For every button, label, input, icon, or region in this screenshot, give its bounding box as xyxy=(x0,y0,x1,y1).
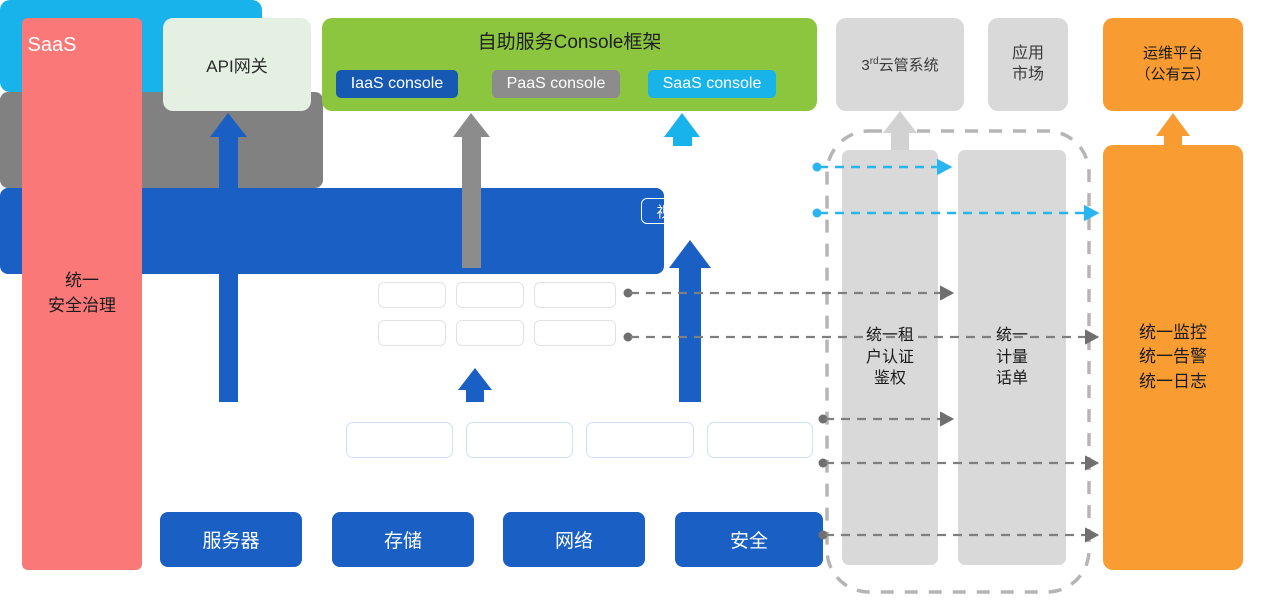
iaas-console-button[interactable]: IaaS console xyxy=(336,70,458,98)
security-governance-column: 统一 安全治理 xyxy=(22,18,142,570)
paas-service-dgc[interactable]: DGC xyxy=(456,282,524,308)
ops-platform-line2: （公有云） xyxy=(1135,65,1210,85)
ops-platform-line1: 运维平台 xyxy=(1135,44,1210,64)
paas-service-roma[interactable]: ROMA xyxy=(378,282,446,308)
auth-line1: 统一租 xyxy=(866,325,914,347)
resource-box-server[interactable]: 服务器 xyxy=(160,512,302,567)
paas-console-button[interactable]: PaaS console xyxy=(492,70,620,98)
billing-line3: 话单 xyxy=(996,368,1028,390)
unified-tenant-auth-column: 统一租 户认证 鉴权 xyxy=(842,150,938,565)
paas-layer-label: PaaS xyxy=(312,302,382,326)
infra-service-network[interactable]: Network xyxy=(586,422,694,458)
ops-column-line2: 统一告警 xyxy=(1139,345,1207,370)
paas-service-cache[interactable]: 缓存 xyxy=(456,320,524,346)
ops-platform-box: 运维平台 （公有云） xyxy=(1103,18,1243,111)
arrow-ops-column-to-platform xyxy=(1156,113,1190,145)
paas-service-database[interactable]: 数据库 xyxy=(378,320,446,346)
arrow-saas-to-console xyxy=(664,113,700,146)
third-party-cloud-box: 3rd云管系统 xyxy=(836,18,964,111)
billing-line2: 计量 xyxy=(996,347,1028,369)
infrastructure-layer-label: 统一基础设施服务 xyxy=(172,428,340,455)
ops-monitoring-column: 统一监控 统一告警 统一日志 xyxy=(1103,145,1243,570)
arrow-shared-to-third-party-cloud xyxy=(883,111,917,150)
ops-column-line1: 统一监控 xyxy=(1139,321,1207,346)
paas-console-label: PaaS console xyxy=(507,75,606,93)
security-governance-line1: 统一 xyxy=(48,269,116,294)
infra-service-cce[interactable]: CCE xyxy=(707,422,813,458)
api-gateway-label: API网关 xyxy=(206,52,267,77)
saas-blockchain-label: 区块链 xyxy=(656,163,701,184)
resource-box-storage[interactable]: 存储 xyxy=(332,512,474,567)
resource-box-network[interactable]: 网络 xyxy=(503,512,645,567)
resource-box-security[interactable]: 安全 xyxy=(675,512,823,567)
paas-modelarts-label: ModelArts xyxy=(543,287,606,303)
paas-bigdata-label: 大数据 xyxy=(554,323,596,343)
saas-video-label: 视频云 xyxy=(656,201,701,222)
saas-service-desktop-cloud[interactable]: 桌面云 xyxy=(725,198,795,224)
third-party-cloud-prefix: 3 xyxy=(861,57,869,74)
resource-network-label: 网络 xyxy=(555,526,593,553)
saas-layer-label: SaaS xyxy=(14,34,90,57)
ops-column-line3: 统一日志 xyxy=(1139,370,1207,395)
auth-line3: 鉴权 xyxy=(866,368,914,390)
infra-cce-label: CCE xyxy=(740,429,780,451)
paas-dgc-label: DGC xyxy=(474,287,505,303)
auth-line2: 户认证 xyxy=(866,347,914,369)
saas-service-iot[interactable]: IoT xyxy=(725,160,795,186)
arrow-infra-to-saas xyxy=(669,240,711,402)
billing-line1: 统一 xyxy=(996,325,1028,347)
paas-cache-label: 缓存 xyxy=(476,323,504,343)
architecture-diagram: 统一 安全治理 API网关 自助服务Console框架 IaaS console… xyxy=(0,0,1265,605)
saas-console-label: SaaS console xyxy=(663,75,762,93)
infra-network-label: Network xyxy=(605,429,675,451)
saas-service-video-cloud[interactable]: 视频云 xyxy=(641,198,717,224)
app-market-line2: 市场 xyxy=(1012,65,1044,86)
infra-storage-label: Storage xyxy=(486,429,553,451)
third-party-cloud-suffix: 云管系统 xyxy=(879,57,939,74)
saas-service-blockchain[interactable]: 区块链 xyxy=(641,160,717,186)
saas-desktop-label: 桌面云 xyxy=(737,201,782,222)
paas-service-modelarts[interactable]: ModelArts xyxy=(534,282,616,308)
paas-database-label: 数据库 xyxy=(391,323,433,343)
resource-server-label: 服务器 xyxy=(202,526,259,553)
saas-console-button[interactable]: SaaS console xyxy=(648,70,776,98)
api-gateway-box: API网关 xyxy=(163,18,311,111)
unified-billing-column: 统一 计量 话单 xyxy=(958,150,1066,565)
app-market-line1: 应用 xyxy=(1012,44,1044,65)
paas-service-bigdata[interactable]: 大数据 xyxy=(534,320,616,346)
console-framework-title: 自助服务Console框架 xyxy=(322,27,817,54)
infra-compute-label: Compute xyxy=(361,429,438,451)
saas-iot-label: IoT xyxy=(749,165,771,182)
paas-roma-label: ROMA xyxy=(391,287,433,303)
arrow-infra-to-paas xyxy=(458,368,492,402)
infra-service-storage[interactable]: Storage xyxy=(466,422,573,458)
resource-security-label: 安全 xyxy=(730,526,768,553)
iaas-console-label: IaaS console xyxy=(351,75,444,93)
app-market-box: 应用 市场 xyxy=(988,18,1068,111)
third-party-cloud-sup: rd xyxy=(870,56,879,67)
infra-service-compute[interactable]: Compute xyxy=(346,422,453,458)
resource-storage-label: 存储 xyxy=(384,526,422,553)
security-governance-line2: 安全治理 xyxy=(48,294,116,319)
